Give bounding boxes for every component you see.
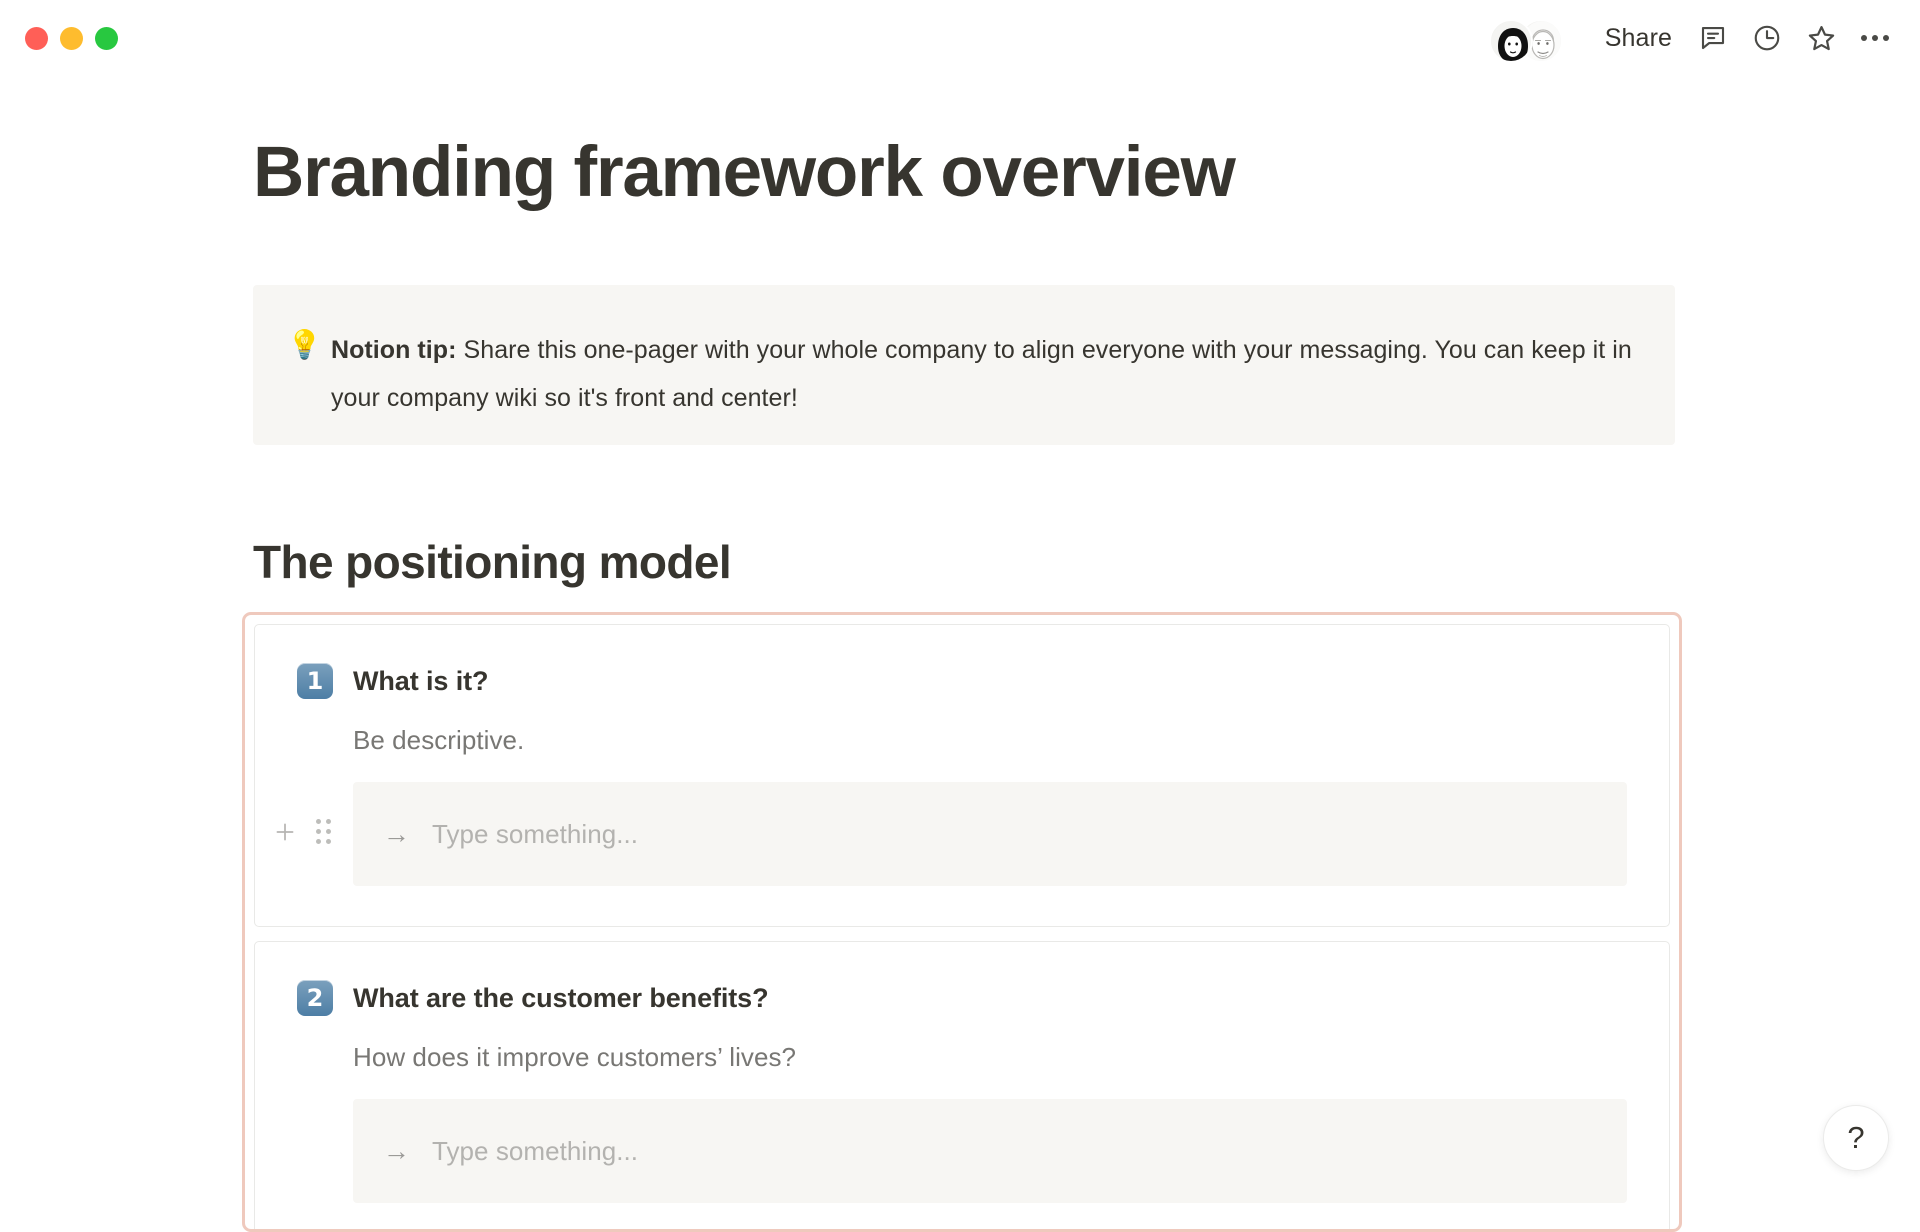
section-heading[interactable]: The positioning model	[253, 535, 731, 589]
answer-placeholder: Type something...	[432, 819, 638, 850]
share-button[interactable]: Share	[1591, 16, 1686, 61]
answer-input-row: → Type something...	[353, 1099, 1627, 1203]
window-titlebar: Share	[0, 0, 1920, 76]
question-title[interactable]: What is it?	[353, 666, 488, 697]
question-subtitle[interactable]: Be descriptive.	[353, 725, 1627, 756]
question-title[interactable]: What are the customer benefits?	[353, 983, 768, 1014]
keycap-number-emoji: 1	[297, 663, 333, 699]
callout-body: Share this one-pager with your whole com…	[331, 336, 1632, 412]
clock-icon[interactable]	[1740, 14, 1794, 62]
drag-handle-icon[interactable]	[313, 816, 334, 847]
light-bulb-emoji: 💡	[287, 326, 331, 364]
question-card[interactable]: 2 What are the customer benefits? How do…	[254, 941, 1670, 1232]
callout-block[interactable]: 💡 Notion tip: Share this one-pager with …	[253, 285, 1675, 445]
document-toolbar: Share	[1489, 0, 1902, 76]
question-subtitle[interactable]: How does it improve customers’ lives?	[353, 1042, 1627, 1073]
answer-input-row: → Type something...	[353, 782, 1627, 886]
synced-block-container[interactable]: 1 What is it? Be descriptive. →	[242, 612, 1682, 1232]
star-icon[interactable]	[1794, 14, 1848, 62]
ellipsis-dots	[1861, 35, 1889, 41]
avatar-user-1[interactable]	[1489, 19, 1533, 63]
collaborator-avatars[interactable]	[1489, 13, 1567, 63]
maximize-window-button[interactable]	[95, 27, 118, 50]
window-traffic-lights	[25, 27, 118, 50]
question-card[interactable]: 1 What is it? Be descriptive. →	[254, 624, 1670, 927]
arrow-right-icon: →	[383, 1138, 410, 1165]
callout-text: Notion tip: Share this one-pager with yo…	[331, 326, 1637, 422]
arrow-right-icon: →	[383, 821, 410, 848]
page-title[interactable]: Branding framework overview	[253, 134, 1235, 212]
more-icon[interactable]	[1848, 14, 1902, 62]
question-heading-row: 2 What are the customer benefits?	[297, 980, 1627, 1016]
answer-placeholder: Type something...	[432, 1136, 638, 1167]
document-page: Share	[0, 0, 1920, 1200]
keycap-number-emoji: 2	[297, 980, 333, 1016]
block-controls	[271, 816, 334, 847]
question-heading-row: 1 What is it?	[297, 663, 1627, 699]
close-window-button[interactable]	[25, 27, 48, 50]
help-button[interactable]: ?	[1823, 1105, 1889, 1171]
answer-input[interactable]: → Type something...	[353, 782, 1627, 886]
comment-icon[interactable]	[1686, 14, 1740, 62]
add-block-icon[interactable]	[271, 818, 299, 846]
callout-lead: Notion tip:	[331, 336, 457, 364]
answer-input[interactable]: → Type something...	[353, 1099, 1627, 1203]
minimize-window-button[interactable]	[60, 27, 83, 50]
